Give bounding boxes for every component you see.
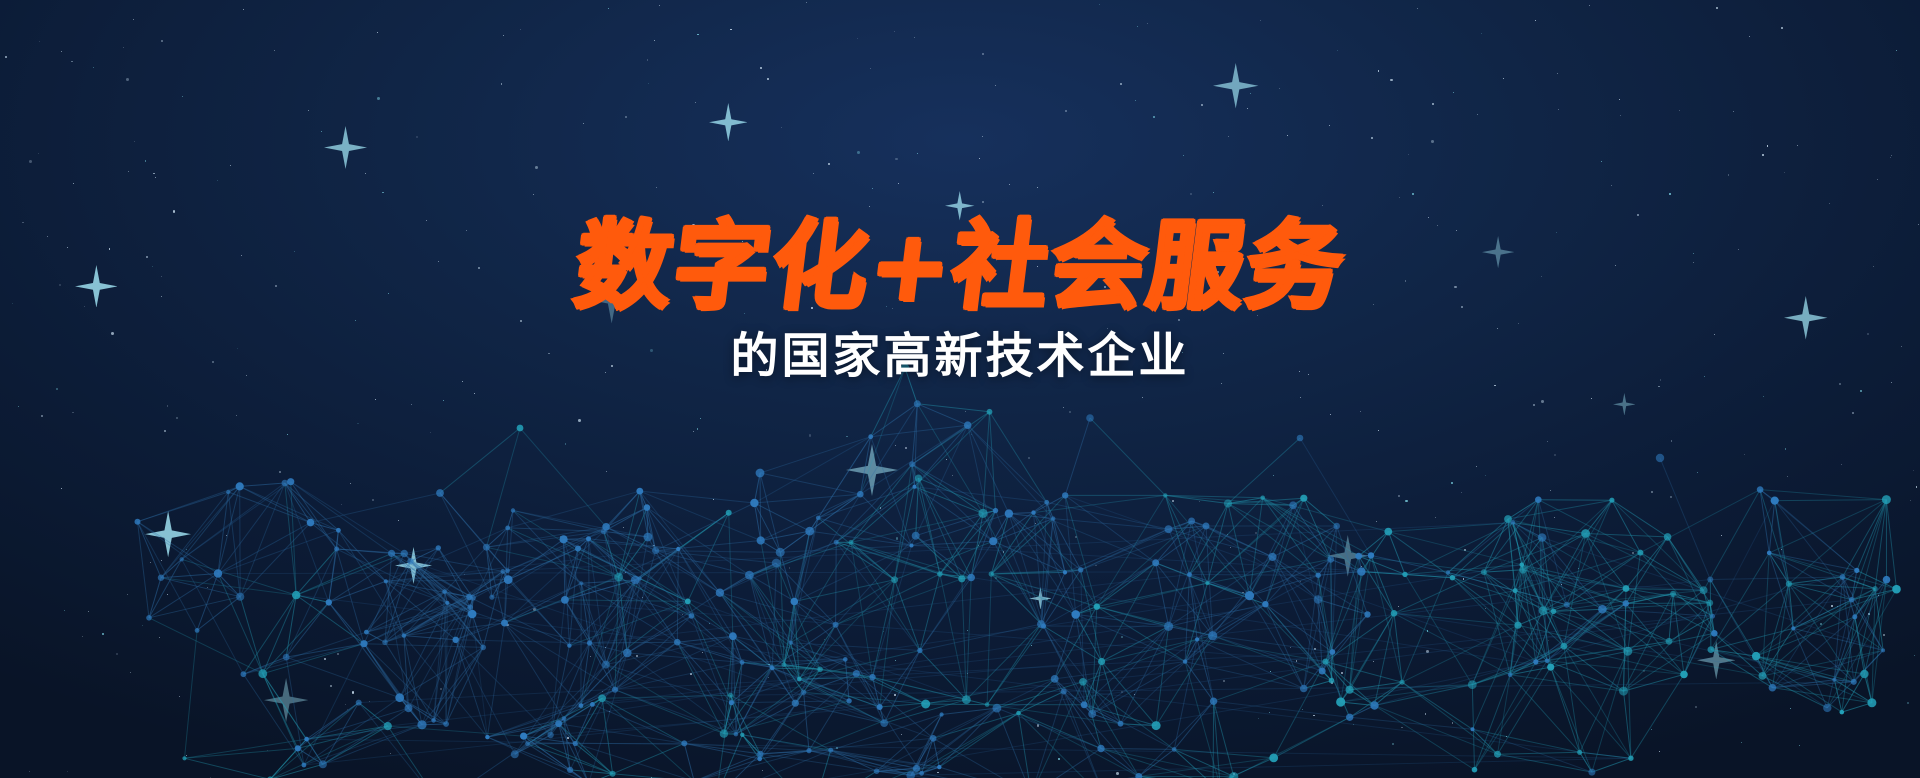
mesh-node — [921, 700, 930, 709]
star-dot — [1111, 344, 1112, 345]
star-dot — [1260, 20, 1261, 21]
star-dot — [1901, 346, 1902, 347]
mesh-node — [1163, 493, 1167, 497]
star-dot — [656, 187, 657, 188]
mesh-node — [623, 649, 632, 658]
star-dot — [895, 660, 896, 661]
star-dot — [398, 520, 399, 521]
star-dot — [1069, 411, 1071, 413]
mesh-node — [806, 748, 811, 753]
star-dot — [38, 153, 39, 154]
star-dot — [1841, 464, 1842, 465]
star-dot — [1371, 137, 1373, 139]
mesh-node — [989, 537, 997, 545]
mesh-node — [601, 529, 607, 535]
mesh-node — [1481, 569, 1487, 575]
star-dot — [1704, 376, 1705, 377]
star-dot — [1134, 694, 1135, 695]
star-dot — [1330, 414, 1331, 415]
mesh-node — [1195, 637, 1199, 641]
star-dot — [1250, 93, 1251, 94]
mesh-node — [1005, 509, 1013, 517]
mesh-node — [1535, 496, 1542, 503]
mesh-node — [1533, 659, 1538, 664]
star-dot — [1589, 5, 1590, 6]
mesh-node — [913, 485, 917, 489]
star-dot — [1075, 536, 1078, 539]
star-dot — [1412, 193, 1414, 195]
star-dot — [982, 136, 983, 137]
mesh-node — [849, 540, 854, 545]
mesh-node — [1370, 701, 1378, 709]
mesh-node — [1078, 567, 1083, 572]
mesh-node — [505, 526, 510, 531]
star-dot — [1762, 154, 1764, 156]
mesh-node — [1400, 680, 1405, 685]
mesh-node — [828, 748, 833, 753]
mesh-node — [1183, 659, 1187, 663]
star-dot — [724, 246, 726, 248]
star-dot — [1733, 111, 1734, 112]
star-dot — [813, 173, 814, 174]
star-dot — [1541, 400, 1544, 403]
star-dot — [857, 38, 858, 39]
mesh-node — [1852, 614, 1857, 619]
star-dot — [72, 412, 73, 413]
mesh-node — [602, 523, 610, 531]
star-dot — [1003, 551, 1004, 552]
sparkle-star — [1482, 236, 1514, 268]
star-dot — [1376, 521, 1377, 522]
mesh-node — [910, 544, 914, 548]
star-dot — [1308, 374, 1309, 375]
mesh-node — [1791, 626, 1795, 630]
star-dot — [846, 436, 847, 437]
star-dot — [917, 153, 918, 154]
star-dot — [828, 163, 830, 165]
mesh-node — [158, 575, 164, 581]
star-dot — [355, 320, 356, 321]
mesh-node — [1188, 518, 1195, 525]
mesh-node — [1203, 523, 1210, 530]
mesh-node — [846, 698, 851, 703]
mesh-node — [637, 576, 641, 580]
star-dot — [895, 445, 896, 446]
star-dot — [739, 268, 741, 270]
star-dot — [1896, 50, 1897, 51]
star-dot — [161, 296, 162, 297]
star-dot — [1361, 566, 1362, 567]
mesh-node — [776, 548, 785, 557]
mesh-node — [1514, 622, 1521, 629]
star-dot — [982, 201, 984, 203]
mesh-node — [1786, 581, 1792, 587]
mesh-node — [1545, 659, 1550, 664]
star-dot — [1242, 592, 1243, 593]
star-dot — [1651, 491, 1653, 493]
star-dot — [695, 102, 696, 103]
star-dot — [337, 653, 339, 655]
star-dot — [167, 405, 168, 406]
star-dot — [613, 278, 614, 279]
star-dot — [39, 41, 40, 42]
mesh-node — [295, 745, 301, 751]
star-dot — [965, 411, 966, 412]
star-dot — [1485, 475, 1486, 476]
star-dot — [1037, 187, 1038, 188]
mesh-node — [1708, 646, 1715, 653]
star-dot — [1435, 517, 1436, 518]
star-dot — [1728, 174, 1729, 175]
star-dot — [375, 399, 376, 400]
star-dot — [152, 266, 153, 267]
star-dot — [1670, 496, 1672, 498]
mesh-node — [384, 722, 392, 730]
star-dot — [606, 471, 607, 472]
star-dot — [898, 337, 899, 338]
star-dot — [237, 348, 238, 349]
mesh-node — [772, 559, 781, 568]
mesh-node — [567, 643, 571, 647]
star-dot — [503, 35, 504, 36]
star-dot — [1373, 304, 1374, 305]
mesh-node — [1666, 638, 1673, 645]
star-dot — [128, 171, 129, 172]
star-dot — [1557, 73, 1558, 74]
mesh-node — [504, 575, 513, 584]
mesh-node — [770, 666, 774, 670]
star-dot — [768, 664, 769, 665]
star-dot — [946, 459, 947, 460]
mesh-node — [901, 364, 910, 373]
star-dot — [1910, 500, 1911, 501]
mesh-node — [1511, 520, 1515, 524]
mesh-node — [1707, 577, 1713, 583]
star-dot — [1269, 712, 1270, 713]
star-dot — [1547, 441, 1548, 442]
star-dot — [1314, 648, 1316, 650]
star-dot — [702, 652, 703, 653]
mesh-node — [614, 573, 623, 582]
star-dot — [1784, 172, 1785, 173]
mesh-node — [1769, 684, 1777, 692]
star-dot — [324, 658, 326, 660]
mesh-node — [681, 740, 687, 746]
star-dot — [1247, 108, 1248, 109]
star-dot — [697, 428, 698, 429]
mesh-node — [1346, 714, 1353, 721]
mesh-node — [1061, 689, 1067, 695]
star-dot — [1494, 385, 1495, 386]
mesh-node — [1881, 648, 1885, 652]
star-dot — [608, 221, 609, 222]
star-dot — [1107, 328, 1108, 329]
mesh-node — [843, 657, 848, 662]
mesh-node — [560, 535, 568, 543]
mesh-node — [555, 720, 562, 727]
mesh-node — [1224, 499, 1232, 507]
mesh-node — [575, 546, 581, 552]
mesh-node — [1333, 523, 1340, 530]
star-dot — [650, 349, 653, 352]
sparkle-star — [75, 265, 118, 308]
mesh-node — [517, 425, 524, 432]
mesh-node — [789, 641, 793, 645]
star-dot — [88, 611, 89, 612]
star-dot — [1322, 205, 1323, 206]
star-dot — [1392, 743, 1394, 745]
star-dot — [109, 248, 110, 249]
star-dot — [236, 415, 237, 416]
mesh-node — [520, 733, 527, 740]
star-dot — [1099, 4, 1100, 5]
mesh-node — [1297, 435, 1304, 442]
star-dot — [1477, 114, 1478, 115]
star-dot — [308, 110, 309, 111]
mesh-node — [1873, 586, 1878, 591]
star-dot — [64, 610, 65, 611]
star-dot — [1548, 640, 1549, 641]
star-dot — [1476, 466, 1477, 467]
star-dot — [1632, 552, 1634, 554]
star-dot — [1121, 636, 1123, 638]
mesh-node — [868, 434, 873, 439]
sparkle-star — [846, 444, 898, 496]
star-dot — [1868, 613, 1870, 615]
mesh-node — [1619, 687, 1628, 696]
mesh-node — [1892, 585, 1901, 594]
mesh-node — [287, 478, 294, 485]
star-dot — [440, 688, 442, 690]
mesh-node — [915, 475, 922, 482]
star-dot — [520, 29, 521, 30]
star-dot — [1186, 268, 1187, 269]
mesh-node — [562, 716, 567, 721]
star-dot — [565, 443, 566, 444]
star-dot — [937, 772, 938, 773]
star-dot — [1201, 104, 1203, 106]
mesh-node — [1262, 601, 1268, 607]
mesh-node — [869, 674, 875, 680]
star-dot — [1873, 266, 1874, 267]
star-dot — [116, 653, 118, 655]
star-dot — [1578, 568, 1579, 569]
mesh-node — [445, 601, 449, 605]
star-dot — [1009, 184, 1010, 185]
mesh-node — [1520, 563, 1525, 568]
star-dot — [1290, 647, 1291, 648]
mesh-node — [1637, 550, 1643, 556]
mesh-node — [906, 771, 915, 778]
mesh-node — [1564, 602, 1570, 608]
star-dot — [1378, 70, 1379, 71]
mesh-node — [1051, 516, 1055, 520]
star-dot — [1658, 386, 1659, 387]
star-dot — [61, 488, 62, 489]
star-dot — [1463, 578, 1464, 579]
star-dot — [1763, 396, 1764, 397]
star-dot — [123, 47, 124, 48]
star-dot — [1669, 193, 1671, 195]
star-dot — [1142, 397, 1143, 398]
mesh-node — [1471, 727, 1475, 731]
mesh-node — [443, 721, 449, 727]
star-dot — [1556, 232, 1557, 233]
star-dot — [61, 51, 62, 52]
star-dot — [186, 549, 187, 550]
mesh-node — [579, 581, 583, 585]
star-dot — [321, 131, 322, 132]
mesh-node — [1187, 572, 1192, 577]
star-dot — [466, 230, 467, 231]
star-dot — [1230, 264, 1231, 265]
star-dot — [1431, 140, 1434, 143]
star-dot — [352, 691, 355, 694]
mesh-node — [1882, 495, 1891, 504]
sparkle-star — [264, 678, 308, 722]
star-dot — [857, 151, 860, 154]
mesh-node — [1336, 697, 1345, 706]
star-dot — [789, 567, 790, 568]
sparkle-star — [395, 547, 432, 584]
star-dot — [1116, 772, 1119, 775]
star-dot — [692, 224, 695, 227]
mesh-node — [1041, 623, 1046, 628]
mesh-node — [745, 571, 754, 580]
mesh-node — [180, 557, 184, 561]
star-dot — [1620, 115, 1621, 116]
star-dot — [766, 369, 767, 370]
mesh-node — [1357, 567, 1365, 575]
mesh-node — [1364, 611, 1370, 617]
mesh-node — [1711, 630, 1718, 637]
mesh-node — [1623, 647, 1632, 656]
star-dot — [388, 293, 389, 294]
star-dot — [1199, 501, 1200, 502]
mesh-node — [1581, 529, 1590, 538]
star-dot — [1891, 382, 1892, 383]
star-dot — [1852, 412, 1854, 414]
star-dot — [1223, 353, 1224, 354]
star-dot — [1671, 440, 1672, 441]
star-dot — [1601, 161, 1602, 162]
star-dot — [1279, 261, 1280, 262]
star-dot — [134, 141, 135, 142]
star-dot — [895, 158, 898, 161]
star-dot — [1829, 203, 1830, 204]
mesh-node — [1322, 659, 1328, 665]
star-dot — [611, 365, 613, 367]
mesh-node — [598, 694, 606, 702]
star-dot — [1255, 532, 1257, 534]
star-dot — [1714, 334, 1715, 335]
mesh-node — [636, 488, 643, 495]
star-dot — [1883, 634, 1885, 636]
star-dot — [623, 527, 624, 528]
star-dot — [142, 625, 143, 626]
mesh-node — [586, 536, 591, 541]
banner-headline: 数字化+社会服务 — [0, 218, 1920, 316]
star-dot — [1425, 713, 1426, 714]
star-dot — [1408, 154, 1409, 155]
mesh-node — [1628, 756, 1633, 761]
star-dot — [443, 400, 444, 401]
mesh-node — [336, 528, 341, 533]
mesh-node — [1446, 570, 1450, 574]
star-dot — [1878, 595, 1879, 596]
star-dot — [241, 255, 242, 256]
star-dot — [971, 434, 972, 435]
star-dot — [1615, 265, 1616, 266]
star-dot — [1065, 110, 1067, 112]
mesh-node — [1840, 710, 1845, 715]
star-dot — [1046, 598, 1048, 600]
star-dot — [1558, 109, 1559, 110]
star-dot — [1405, 500, 1408, 503]
star-dot — [161, 40, 163, 42]
star-dot — [230, 165, 231, 166]
mesh-node — [1700, 586, 1708, 594]
star-dot — [560, 536, 561, 537]
mesh-node — [1680, 671, 1688, 679]
mesh-node — [805, 527, 814, 536]
star-dot — [506, 624, 509, 627]
sparkle-star — [1697, 641, 1735, 679]
star-dot — [246, 375, 247, 376]
star-dot — [647, 59, 648, 60]
mesh-node — [602, 661, 610, 669]
mesh-node — [501, 620, 508, 627]
mesh-node — [1172, 747, 1177, 752]
star-dot — [1799, 745, 1800, 746]
star-dot — [29, 160, 32, 163]
mesh-node — [431, 718, 436, 723]
star-dot — [653, 545, 654, 546]
star-dot — [762, 770, 763, 771]
mesh-node — [978, 509, 987, 518]
star-dot — [186, 755, 187, 756]
star-dot — [111, 332, 114, 335]
mesh-node — [1402, 572, 1407, 577]
mesh-node — [1208, 631, 1217, 640]
star-dot — [1099, 343, 1100, 344]
star-dot — [1744, 454, 1745, 455]
star-dot — [462, 381, 463, 382]
mesh-node — [1752, 652, 1760, 660]
mesh-node — [757, 756, 762, 761]
star-dot — [1767, 145, 1768, 146]
star-dot — [894, 31, 895, 32]
mesh-node — [467, 604, 473, 610]
sparkle-star — [145, 511, 191, 557]
mesh-node — [652, 547, 659, 554]
star-dot — [56, 388, 58, 390]
star-dot — [608, 8, 609, 9]
star-dot — [636, 655, 638, 657]
mesh-node — [631, 576, 640, 585]
star-dot — [22, 222, 23, 223]
star-dot — [535, 166, 538, 169]
star-dot — [1390, 79, 1393, 82]
hero-banner: 数字化+社会服务 的国家高新技术企业 — [0, 0, 1920, 778]
mesh-node — [1081, 701, 1088, 708]
star-dot — [1907, 702, 1909, 704]
star-dot — [700, 418, 701, 419]
banner-text-block: 数字化+社会服务 的国家高新技术企业 — [0, 218, 1920, 383]
star-dot — [548, 353, 549, 354]
mesh-node — [1346, 686, 1354, 694]
star-dot — [914, 37, 915, 38]
